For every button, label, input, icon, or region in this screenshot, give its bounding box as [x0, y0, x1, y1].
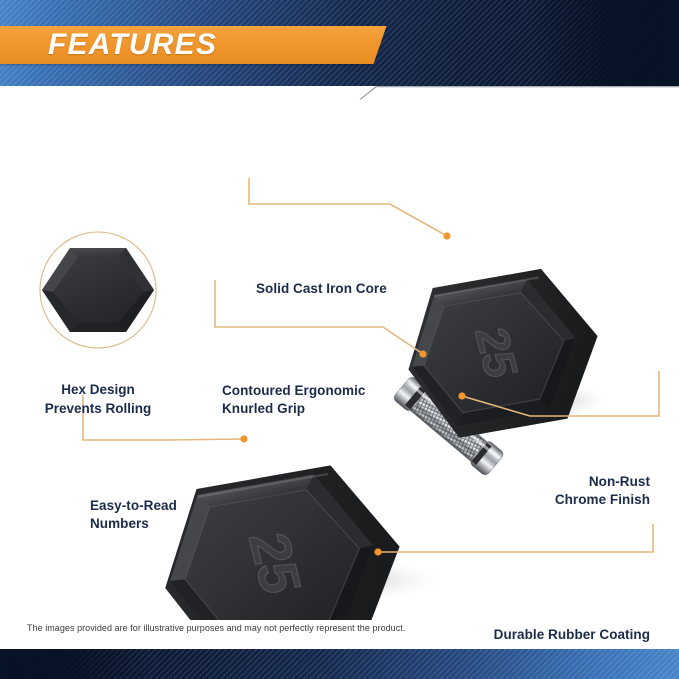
leader-dot-contoured-grip — [419, 350, 426, 357]
callout-line-1: Solid Cast Iron Core — [256, 280, 387, 298]
callout-durable-rubber-coating: Durable Rubber Coating — [494, 626, 650, 644]
leader-dot-easy-to-read-numbers — [240, 435, 247, 442]
callout-contoured-ergonomic-knurled-grip: Contoured Ergonomic Knurled Grip — [222, 382, 365, 418]
feature-diagram: 25 25 — [0, 100, 679, 620]
callout-leader-lines — [0, 100, 679, 620]
leader-dot-non-rust-chrome — [458, 392, 465, 399]
header-right-shadow — [529, 0, 679, 86]
callout-line-2: Numbers — [90, 515, 177, 533]
callout-easy-to-read-numbers: Easy-to-Read Numbers — [90, 497, 177, 533]
header-banner: FEATURES — [0, 0, 679, 86]
callout-line-1: Easy-to-Read — [90, 497, 177, 515]
footer-left-shadow — [0, 649, 150, 679]
callout-line-2: Knurled Grip — [222, 400, 365, 418]
callout-line-1: Contoured Ergonomic — [222, 382, 365, 400]
page-title: FEATURES — [48, 29, 217, 61]
callout-line-1: Non-Rust — [555, 473, 650, 491]
callout-hex-design-prevents-rolling: Hex Design Prevents Rolling — [27, 380, 169, 418]
callout-line-2: Prevents Rolling — [27, 399, 169, 418]
leader-dot-solid-cast-iron-core — [443, 232, 450, 239]
callout-line-1: Durable Rubber Coating — [494, 626, 650, 644]
leader-line-durable-rubber-coating — [378, 524, 653, 552]
header-divider-rule — [0, 86, 679, 100]
callout-solid-cast-iron-core: Solid Cast Iron Core — [256, 280, 387, 298]
callout-line-1: Hex Design — [27, 380, 169, 399]
callout-non-rust-chrome-finish: Non-Rust Chrome Finish — [555, 473, 650, 509]
footer-banner — [0, 649, 679, 679]
callout-line-2: Chrome Finish — [555, 491, 650, 509]
leader-line-non-rust-chrome — [462, 371, 659, 416]
leader-line-solid-cast-iron-core — [249, 178, 447, 236]
disclaimer-text: The images provided are for illustrative… — [27, 623, 405, 633]
leader-dot-durable-rubber-coating — [374, 548, 381, 555]
